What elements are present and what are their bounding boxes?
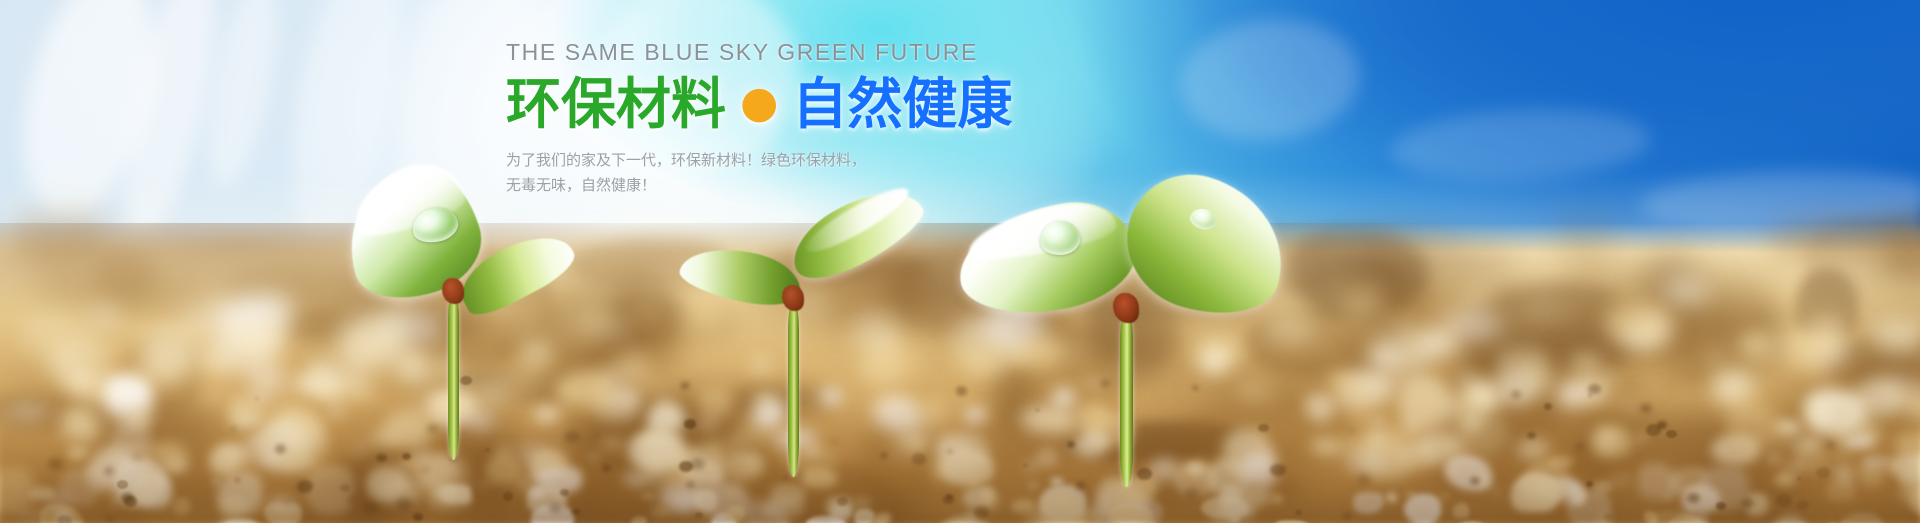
soil-crumb <box>635 373 670 400</box>
soil-crumb <box>1370 346 1403 367</box>
subtitle-line-2: 无毒无味，自然健康！ <box>506 173 1386 198</box>
soil-crumb <box>142 329 197 382</box>
sprout-right <box>940 185 1280 485</box>
sprout-node <box>442 278 464 304</box>
soil-crumb <box>94 307 116 324</box>
soil-crumb <box>1704 348 1731 370</box>
soil-crumb <box>1571 354 1602 372</box>
subtitle-line-1: 为了我们的家及下一代，环保新材料！绿色环保材料， <box>506 148 1386 173</box>
soil-pebble <box>1588 394 1592 397</box>
sprout-stem <box>788 297 799 477</box>
sprout-middle <box>680 185 930 475</box>
sprout-stem <box>1120 307 1133 487</box>
page-title: 环保材料●自然健康 <box>506 74 1386 136</box>
eco-materials-hero-banner: THE SAME BLUE SKY GREEN FUTURE 环保材料●自然健康… <box>0 0 1920 523</box>
soil-crumb <box>228 324 284 356</box>
soil-crumb <box>627 297 660 329</box>
headline-blue-text: 自然健康 <box>792 72 1012 136</box>
soil-crumb <box>1818 380 1833 388</box>
soil-crumb <box>1564 312 1575 320</box>
soil-crumb <box>1523 302 1559 318</box>
banner-eyebrow-tagline: THE SAME BLUE SKY GREEN FUTURE <box>506 40 1386 65</box>
soil-crumb <box>1636 316 1674 341</box>
sprout-node <box>1113 293 1139 323</box>
banner-copy: THE SAME BLUE SKY GREEN FUTURE 环保材料●自然健康… <box>506 40 1386 198</box>
soil-crumb <box>1738 300 1750 305</box>
sprout-node <box>782 285 804 311</box>
soil-crumb <box>1472 291 1485 304</box>
sprout-stem <box>448 288 459 460</box>
soil-crumb <box>1613 298 1634 308</box>
soil-crumb <box>1366 292 1380 303</box>
soil-crumb <box>248 364 286 397</box>
soil-crumb <box>66 371 88 388</box>
soil-crumb <box>203 385 226 402</box>
soil-crumb <box>1662 276 1711 304</box>
soil-crumb <box>1813 313 1847 344</box>
soil-crumb <box>1870 317 1920 353</box>
separator-dot-icon: ● <box>726 77 792 128</box>
soil-crumb <box>1820 344 1850 363</box>
headline-green-text: 环保材料 <box>506 72 726 136</box>
soil-crumb <box>1604 374 1620 385</box>
sprout-left <box>330 160 590 460</box>
soil-crumb <box>629 354 642 361</box>
soil-crumb <box>1496 346 1547 372</box>
soil-crumb <box>1750 345 1767 357</box>
banner-subtitle: 为了我们的家及下一代，环保新材料！绿色环保材料， 无毒无味，自然健康！ <box>506 148 1386 198</box>
soil-crumb <box>1713 369 1756 406</box>
soil-crumb <box>1647 380 1661 390</box>
soil-crumb <box>193 353 233 376</box>
